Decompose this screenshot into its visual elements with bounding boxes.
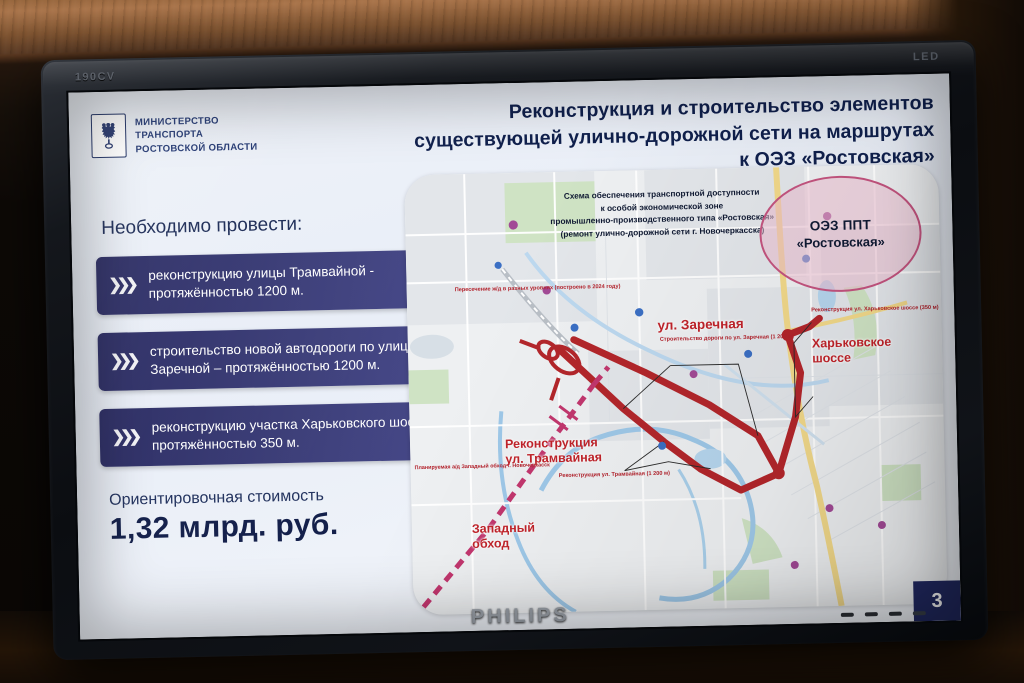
cost-block: Ориентировочная стоимость 1,32 млрд. руб… — [109, 487, 339, 547]
map-label-zarechnaya: ул. Заречная — [657, 316, 743, 333]
map-label-kharkovskoe: Харьковское шоссе — [812, 335, 892, 367]
monitor-screen: МИНИСТЕРСТВО ТРАНСПОРТА РОСТОВСКОЙ ОБЛАС… — [68, 73, 961, 639]
chevrons-icon: ❯❯❯ — [110, 351, 136, 373]
coat-of-arms-icon — [91, 113, 127, 158]
presentation-slide: МИНИСТЕРСТВО ТРАНСПОРТА РОСТОВСКОЙ ОБЛАС… — [68, 73, 961, 639]
need-heading: Необходимо провести: — [101, 214, 303, 240]
ministry-line-3: РОСТОВСКОЙ ОБЛАСТИ — [135, 141, 257, 157]
philips-monitor: 190CV LED МИНИСТЕРСТВО ТРАН — [41, 40, 989, 660]
bullet-text-1: реконструкцию улицы Трамвайной - протяжё… — [148, 263, 374, 301]
map-figure: Схема обеспечения транспортной доступнос… — [404, 164, 947, 616]
monitor-menu-button[interactable] — [841, 613, 854, 617]
chevrons-icon: ❯❯❯ — [112, 427, 138, 449]
zapadny-line-2: обход — [472, 536, 535, 552]
bullet-text-2: строительство новой автодороги по улице … — [150, 338, 416, 377]
cost-value: 1,32 млрд. руб. — [109, 508, 338, 547]
kharkovskoe-line-1: Харьковское — [812, 335, 892, 352]
monitor-model-label: 190CV — [75, 71, 116, 84]
map-note-planned-road: Планируемая а/д Западный обход г. Новоче… — [414, 464, 480, 473]
monitor-power-button[interactable] — [913, 611, 926, 615]
chevrons-icon: ❯❯❯ — [108, 275, 134, 297]
ministry-name: МИНИСТЕРСТВО ТРАНСПОРТА РОСТОВСКОЙ ОБЛАС… — [135, 111, 258, 157]
monitor-led-label: LED — [913, 51, 940, 64]
map-label-zapadny-obkhod: Западный обход — [472, 521, 536, 552]
monitor-minus-button[interactable] — [865, 612, 878, 616]
kharkovskoe-line-2: шоссе — [812, 350, 892, 367]
map-sublabel-tramvaynaya: Реконструкция ул. Трамвайная (1 200 м) — [559, 470, 639, 480]
bullet-text-3: реконструкцию участка Харьковского шоссе… — [151, 414, 440, 453]
oez-subtitle: «Ростовская» — [796, 234, 884, 251]
zapadny-line-1: Западный — [472, 521, 535, 537]
cost-label: Ориентировочная стоимость — [109, 487, 338, 510]
oez-title: ОЭЗ ППТ — [810, 217, 872, 233]
ministry-logo: МИНИСТЕРСТВО ТРАНСПОРТА РОСТОВСКОЙ ОБЛАС… — [91, 111, 258, 159]
monitor-plus-button[interactable] — [889, 612, 902, 616]
